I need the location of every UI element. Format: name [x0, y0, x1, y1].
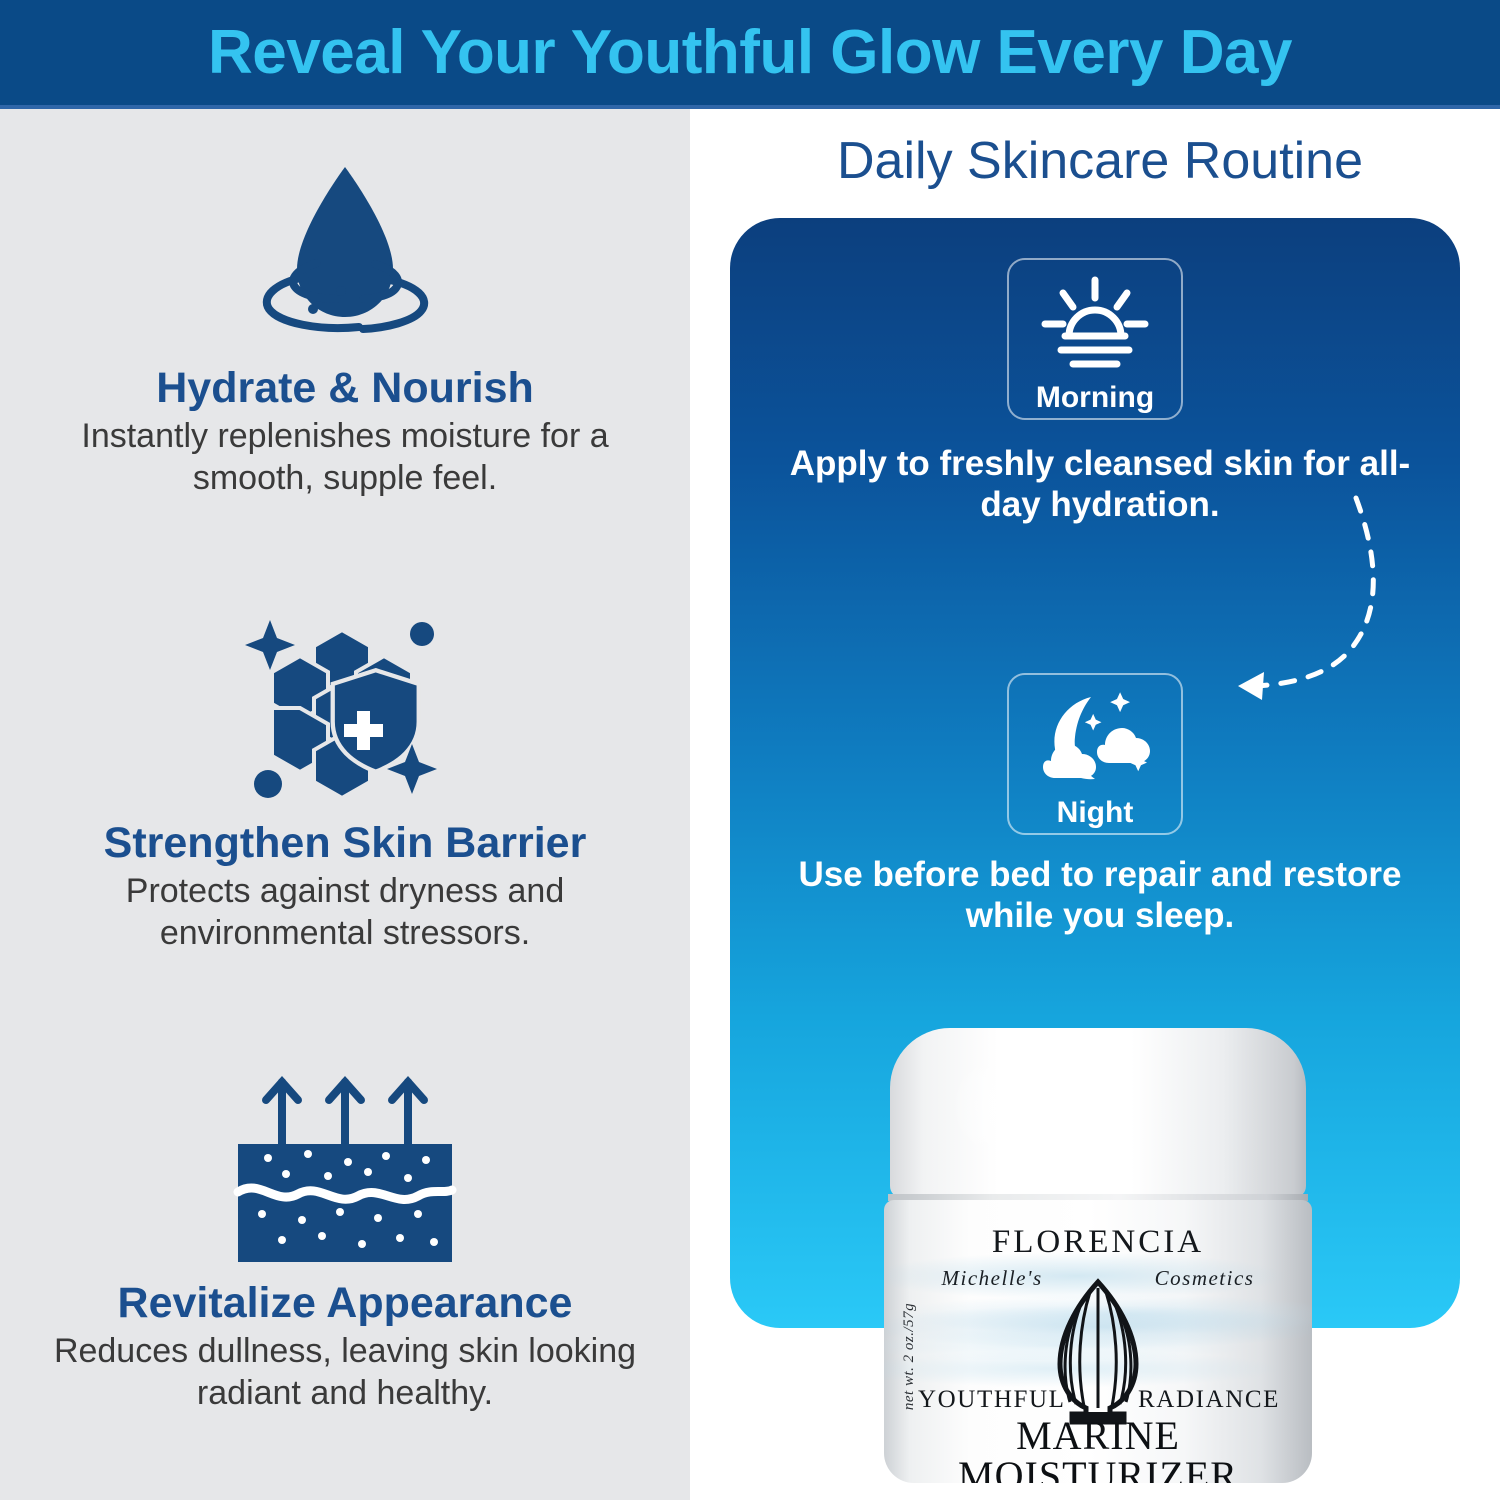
page-title: Reveal Your Youthful Glow Every Day — [208, 22, 1292, 84]
product-name: MARINE MOISTURIZER — [884, 1416, 1312, 1483]
infographic-page: Reveal Your Youthful Glow Every Day — [0, 0, 1500, 1500]
product-brand: FLORENCIA — [884, 1226, 1312, 1259]
feature-item-barrier: Strengthen Skin Barrier Protects against… — [0, 604, 690, 954]
feature-description: Instantly replenishes moisture for a smo… — [0, 416, 690, 499]
product-subbrand-right: Cosmetics — [1155, 1266, 1255, 1291]
badge-label: Night — [1057, 796, 1134, 830]
routine-text-night: Use before bed to repair and restore whi… — [780, 855, 1420, 936]
jar-lid-highlight — [950, 1046, 1070, 1166]
product-subbrand-left: Michelle's — [942, 1266, 1043, 1291]
feature-item-revitalize: Revitalize Appearance Reduces dullness, … — [0, 1064, 690, 1414]
feature-title: Strengthen Skin Barrier — [0, 820, 690, 867]
feature-item-hydrate: Hydrate & Nourish Instantly replenishes … — [0, 149, 690, 499]
jar-lid — [890, 1028, 1306, 1198]
badge-label: Morning — [1036, 381, 1154, 415]
routine-heading: Daily Skincare Routine — [700, 133, 1500, 190]
product-tagline-right: RADIANCE — [1138, 1386, 1280, 1414]
features-panel: Hydrate & Nourish Instantly replenishes … — [0, 109, 690, 1500]
header-banner: Reveal Your Youthful Glow Every Day — [0, 0, 1500, 105]
skin-layer-arrows-icon — [0, 1064, 690, 1274]
badge-night[interactable]: Night — [1007, 673, 1183, 835]
badge-morning[interactable]: Morning — [1007, 258, 1183, 420]
feature-description: Protects against dryness and environment… — [0, 871, 690, 954]
product-jar: FLORENCIA Michelle'sCosmetics — [878, 1028, 1318, 1483]
jar-label: FLORENCIA Michelle'sCosmetics — [884, 1200, 1312, 1483]
feature-title: Hydrate & Nourish — [0, 365, 690, 412]
product-net-weight: net wt. 2 oz./57g — [901, 1303, 918, 1410]
product-tagline-left: YOUTHFUL — [918, 1386, 1066, 1414]
feature-title: Revitalize Appearance — [0, 1280, 690, 1327]
moon-clouds-stars-icon — [1037, 691, 1153, 792]
sunrise-icon — [1041, 276, 1149, 377]
hexagon-shield-icon — [0, 604, 690, 814]
feature-description: Reduces dullness, leaving skin looking r… — [0, 1331, 690, 1414]
water-droplet-ripple-icon — [0, 149, 690, 359]
